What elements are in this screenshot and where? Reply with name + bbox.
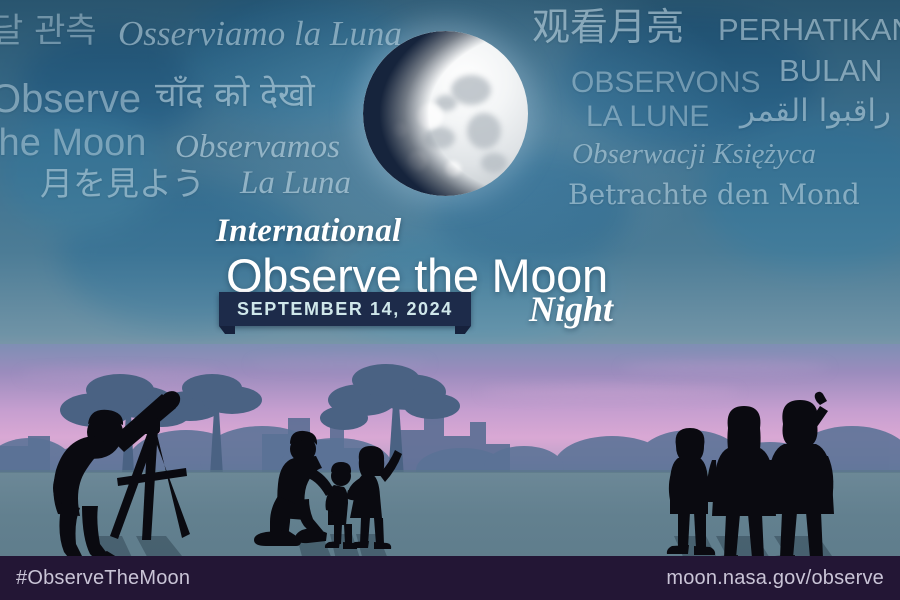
family-group-silhouette [254,431,402,549]
website-url-label[interactable]: moon.nasa.gov/observe [666,567,884,590]
title-international: International [216,213,401,250]
telescope-observer-silhouette [50,387,190,577]
hashtag-label: #ObserveTheMoon [16,567,190,590]
standing-observers-silhouette [667,392,834,565]
title-night: Night [529,288,613,330]
date-ribbon: SEPTEMBER 14, 2024 [219,292,471,326]
title-block: International Observe the Moon SEPTEMBER… [0,0,900,360]
date-text: SEPTEMBER 14, 2024 [237,299,453,320]
footer-bar: #ObserveTheMoon moon.nasa.gov/observe [0,556,900,600]
poster-canvas: 달 관측 Osserviamo la Luna 观看月亮 PERHATIKAN … [0,0,900,600]
